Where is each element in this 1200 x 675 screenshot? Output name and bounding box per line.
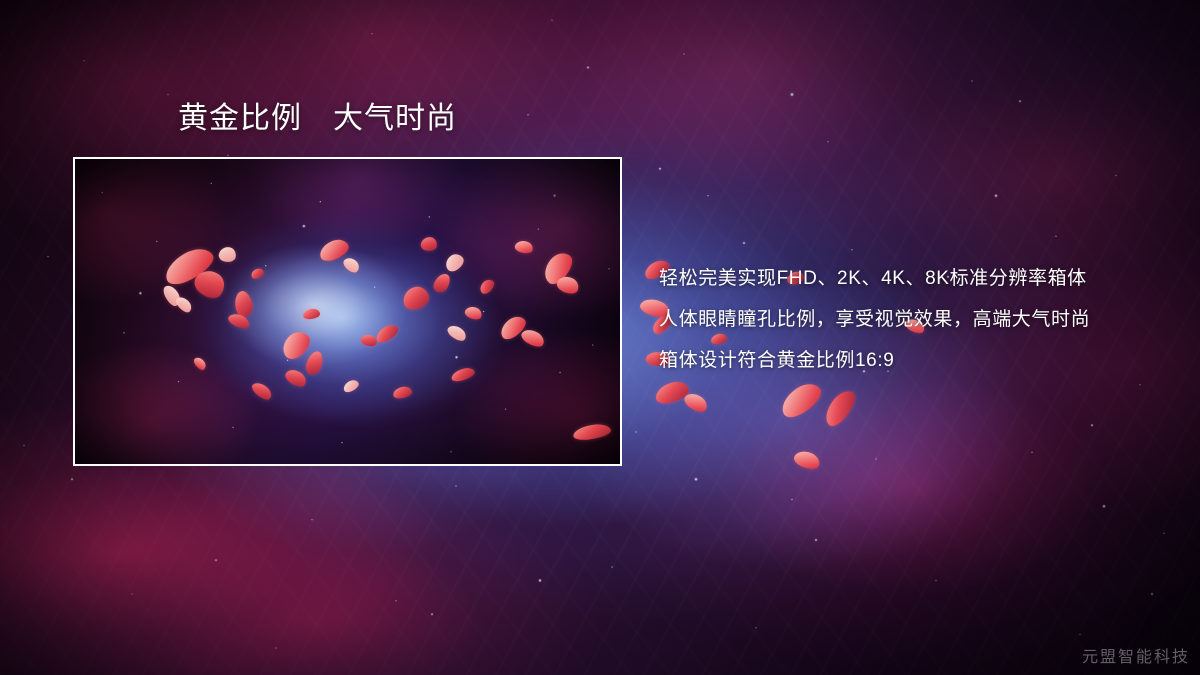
- photo-vignette: [75, 159, 620, 464]
- petal: [792, 448, 822, 473]
- body-line-2: 人体眼睛瞳孔比例，享受视觉效果，高端大气时尚: [659, 299, 1179, 340]
- presentation-slide: 黄金比例 大气时尚 轻松完美实现FHD、2K、4K、8K标准分辨率箱体 人体眼睛…: [0, 0, 1200, 675]
- petal: [820, 386, 860, 430]
- photo-inner: [75, 159, 620, 464]
- watermark-brand: 元盟智能科技: [1082, 643, 1190, 667]
- body-line-3: 箱体设计符合黄金比例16:9: [659, 340, 1179, 381]
- page-title: 黄金比例 大气时尚: [178, 101, 457, 137]
- petal: [776, 378, 826, 423]
- body-copy-block: 轻松完美实现FHD、2K、4K、8K标准分辨率箱体 人体眼睛瞳孔比例，享受视觉效…: [659, 258, 1179, 381]
- body-line-1: 轻松完美实现FHD、2K、4K、8K标准分辨率箱体: [659, 258, 1179, 299]
- framed-photo: [73, 157, 622, 466]
